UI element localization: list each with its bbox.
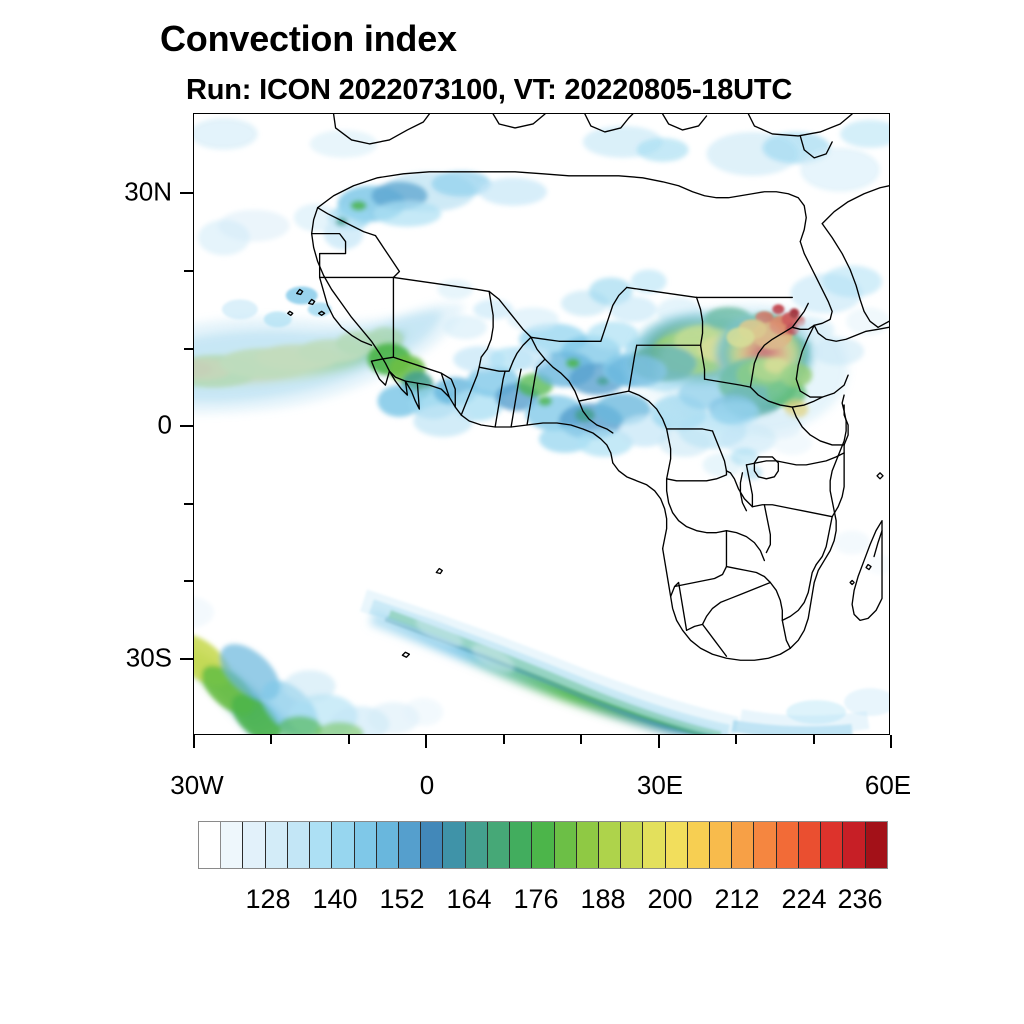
- colorbar-cell: [577, 822, 599, 868]
- colorbar-cell: [532, 822, 554, 868]
- convection-index-figure: Convection index Run: ICON 2022073100, V…: [0, 0, 1024, 1024]
- ytick-0: [180, 425, 193, 427]
- xtick-60e: [890, 735, 892, 748]
- xtick-50e: [813, 735, 815, 744]
- colorbar-cell: [688, 822, 710, 868]
- colorbar-cell: [310, 822, 332, 868]
- colorbar-cell: [777, 822, 799, 868]
- colorbar-cell: [443, 822, 465, 868]
- ytick-10n: [184, 348, 193, 350]
- colorbar-cell: [266, 822, 288, 868]
- colorbar-cell: [621, 822, 643, 868]
- ytick-30s: [180, 658, 193, 660]
- xtick-40e: [735, 735, 737, 744]
- ytick-20s: [184, 580, 193, 582]
- colorbar-cell: [599, 822, 621, 868]
- colorbar-cell: [710, 822, 732, 868]
- map-plot-area[interactable]: [193, 113, 890, 735]
- xlabel-0: 0: [357, 770, 497, 801]
- cbar-tick-236: 236: [815, 884, 905, 915]
- ytick-10s: [184, 503, 193, 505]
- map-canvas: [194, 114, 889, 734]
- colorbar-cell: [243, 822, 265, 868]
- ytick-30n: [180, 192, 193, 194]
- figure-subtitle: Run: ICON 2022073100, VT: 20220805-18UTC: [186, 74, 792, 107]
- colorbar-cell: [821, 822, 843, 868]
- xtick-0: [425, 735, 427, 748]
- colorbar-cell: [754, 822, 776, 868]
- colorbar-cell: [666, 822, 688, 868]
- ytick-20n: [184, 270, 193, 272]
- colorbar-cell: [732, 822, 754, 868]
- colorbar-cell: [510, 822, 532, 868]
- colorbar-cell: [466, 822, 488, 868]
- colorbar-cell: [421, 822, 443, 868]
- colorbar[interactable]: [198, 821, 888, 869]
- ylabel-30n: 30N: [62, 177, 172, 208]
- colorbar-cell: [488, 822, 510, 868]
- ylabel-30s: 30S: [62, 643, 172, 674]
- colorbar-cell: [555, 822, 577, 868]
- colorbar-cell: [288, 822, 310, 868]
- colorbar-cell: [355, 822, 377, 868]
- colorbar-cell: [221, 822, 243, 868]
- colorbar-cell: [377, 822, 399, 868]
- xlabel-60e: 60E: [818, 770, 958, 801]
- xtick-30w: [193, 735, 195, 748]
- xlabel-30w: 30W: [127, 770, 267, 801]
- colorbar-cell: [199, 822, 221, 868]
- xtick-20e: [580, 735, 582, 744]
- colorbar-cell: [643, 822, 665, 868]
- xtick-10e: [503, 735, 505, 744]
- colorbar-cell: [399, 822, 421, 868]
- xtick-30e: [658, 735, 660, 748]
- colorbar-cell: [332, 822, 354, 868]
- ylabel-0: 0: [62, 410, 172, 441]
- colorbar-cell: [866, 822, 887, 868]
- xlabel-30e: 30E: [590, 770, 730, 801]
- page-title: Convection index: [160, 18, 457, 60]
- xtick-20w: [270, 735, 272, 744]
- xtick-10w: [348, 735, 350, 744]
- colorbar-cell: [843, 822, 865, 868]
- colorbar-cell: [799, 822, 821, 868]
